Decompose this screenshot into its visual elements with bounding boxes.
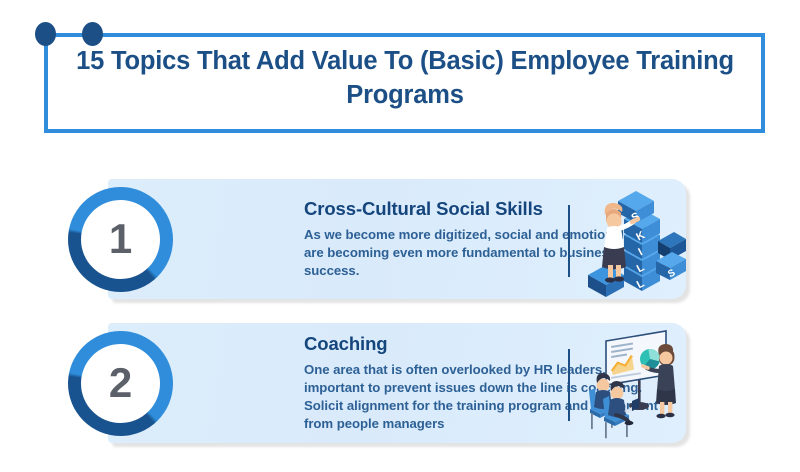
header-banner: 15 Topics That Add Value To (Basic) Empl… [0,0,800,160]
header-dot-right-icon [82,22,103,46]
card-number-ring: 2 [68,331,173,436]
card-number-ring-inner: 2 [81,344,160,423]
topic-card[interactable]: Cross-Cultural Social Skills As we becom… [0,176,800,298]
topic-card-list: Cross-Cultural Social Skills As we becom… [0,176,800,464]
header-dot-left-icon [35,22,56,46]
page-title: 15 Topics That Add Value To (Basic) Empl… [60,45,750,113]
card-number: 2 [109,362,132,404]
card-divider [568,349,570,421]
card-number: 1 [109,218,132,260]
card-number-ring-inner: 1 [81,200,160,279]
topic-card[interactable]: Coaching One area that is often overlook… [0,320,800,442]
card-panel: Cross-Cultural Social Skills As we becom… [108,179,686,299]
card-panel: Coaching One area that is often overlook… [108,323,686,443]
training-session-illustration [580,323,686,443]
skills-blocks-illustration: L L I [580,179,686,299]
card-number-ring: 1 [68,187,173,292]
card-divider [568,205,570,277]
